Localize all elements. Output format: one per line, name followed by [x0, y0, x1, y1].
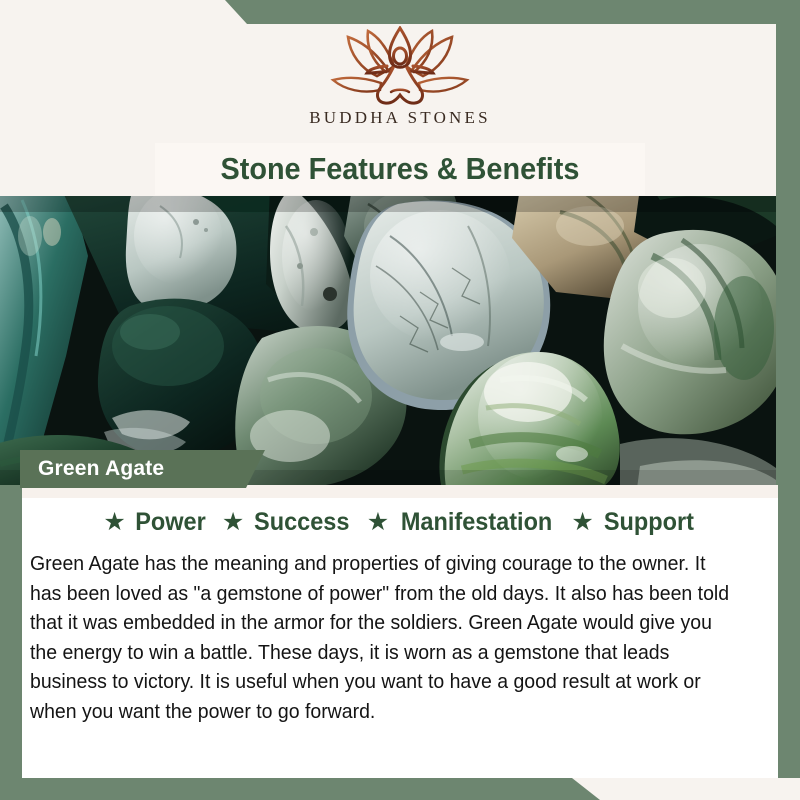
benefit-label: Support — [604, 508, 694, 537]
benefit-label: Success — [254, 508, 349, 537]
brand-logo-block: BUDDHA STONES — [0, 26, 800, 146]
page-title: Stone Features & Benefits — [221, 151, 580, 187]
section-title-banner: Stone Features & Benefits — [155, 143, 645, 195]
description-panel: ★ Power ★ Success ★ Manifestation ★ Supp… — [22, 485, 778, 778]
brand-name: BUDDHA STONES — [309, 108, 491, 128]
lotus-meditation-icon — [325, 26, 475, 106]
benefit-item: ★ Manifestation — [367, 508, 558, 537]
frame-top-accent — [0, 0, 800, 24]
benefit-item: ★ Power — [103, 508, 207, 537]
stone-photo — [0, 196, 776, 485]
benefit-item: ★ Success — [222, 508, 353, 537]
stone-name: Green Agate — [38, 457, 164, 481]
stone-description: Green Agate has the meaning and properti… — [30, 550, 739, 727]
stone-name-tag: Green Agate — [20, 450, 265, 488]
benefit-item: ★ Support — [571, 508, 696, 537]
star-icon: ★ — [103, 510, 125, 535]
infographic-page: BUDDHA STONES — [0, 0, 800, 800]
benefits-row: ★ Power ★ Success ★ Manifestation ★ Supp… — [22, 508, 778, 537]
star-icon: ★ — [367, 510, 389, 535]
benefit-label: Manifestation — [401, 508, 552, 537]
star-icon: ★ — [571, 510, 593, 535]
frame-left-accent — [0, 485, 22, 800]
benefit-label: Power — [135, 508, 206, 537]
star-icon: ★ — [222, 510, 244, 535]
